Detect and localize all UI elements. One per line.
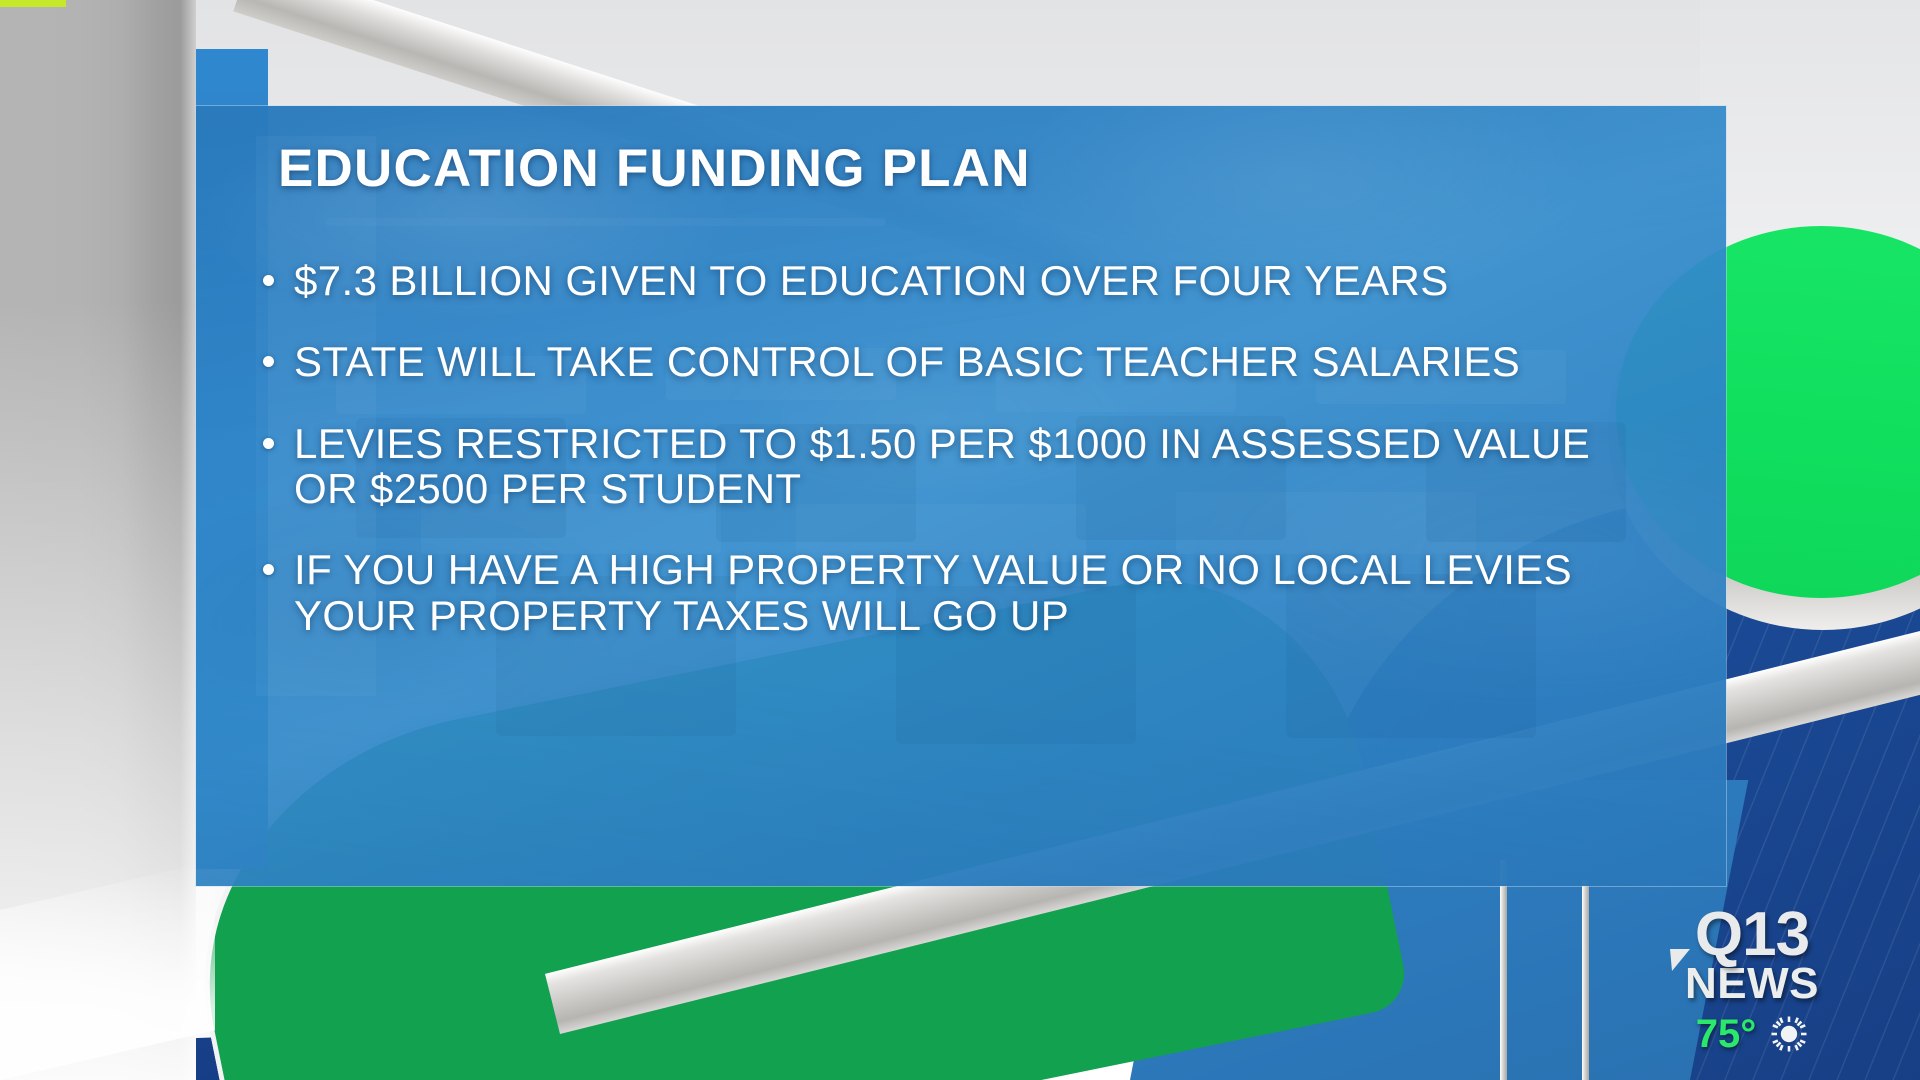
bullet-text: LEVIES RESTRICTED TO $1.50 PER $1000 IN … xyxy=(294,420,1590,512)
studio-post-2 xyxy=(1582,880,1589,1080)
bullet-dot-icon xyxy=(263,275,274,286)
sun-icon xyxy=(1770,1015,1808,1053)
bullet-text: IF YOU HAVE A HIGH PROPERTY VALUE OR NO … xyxy=(294,546,1572,638)
bullet-item: LEVIES RESTRICTED TO $1.50 PER $1000 IN … xyxy=(254,421,1646,512)
graphic-headline: EDUCATION FUNDING PLAN xyxy=(278,138,1031,199)
broadcast-screen: EDUCATION FUNDING PLAN $7.3 BILLION GIVE… xyxy=(0,0,1920,1080)
weather-bug: 75° xyxy=(1662,1014,1842,1054)
bullet-dot-icon xyxy=(263,438,274,449)
station-callsign: Q13 xyxy=(1662,904,1842,966)
lime-accent-bar xyxy=(0,0,66,7)
bullet-item: STATE WILL TAKE CONTROL OF BASIC TEACHER… xyxy=(254,339,1646,384)
bullet-item: IF YOU HAVE A HIGH PROPERTY VALUE OR NO … xyxy=(254,547,1646,638)
studio-post-1 xyxy=(1500,860,1507,1080)
speech-bubble-tail-icon xyxy=(1668,947,1694,973)
bullet-dot-icon xyxy=(263,564,274,575)
weather-temperature: 75° xyxy=(1696,1014,1757,1054)
bullet-text: $7.3 BILLION GIVEN TO EDUCATION OVER FOU… xyxy=(294,257,1449,304)
station-bug: Q13 NEWS 75° xyxy=(1662,904,1842,1054)
fullscreen-graphic-panel: EDUCATION FUNDING PLAN $7.3 BILLION GIVE… xyxy=(196,106,1726,886)
station-callsign-text: Q13 xyxy=(1695,900,1809,969)
bullet-dot-icon xyxy=(263,356,274,367)
bullet-text: STATE WILL TAKE CONTROL OF BASIC TEACHER… xyxy=(294,338,1520,385)
graphic-bullet-list: $7.3 BILLION GIVEN TO EDUCATION OVER FOU… xyxy=(254,258,1646,638)
bullet-item: $7.3 BILLION GIVEN TO EDUCATION OVER FOU… xyxy=(254,258,1646,303)
